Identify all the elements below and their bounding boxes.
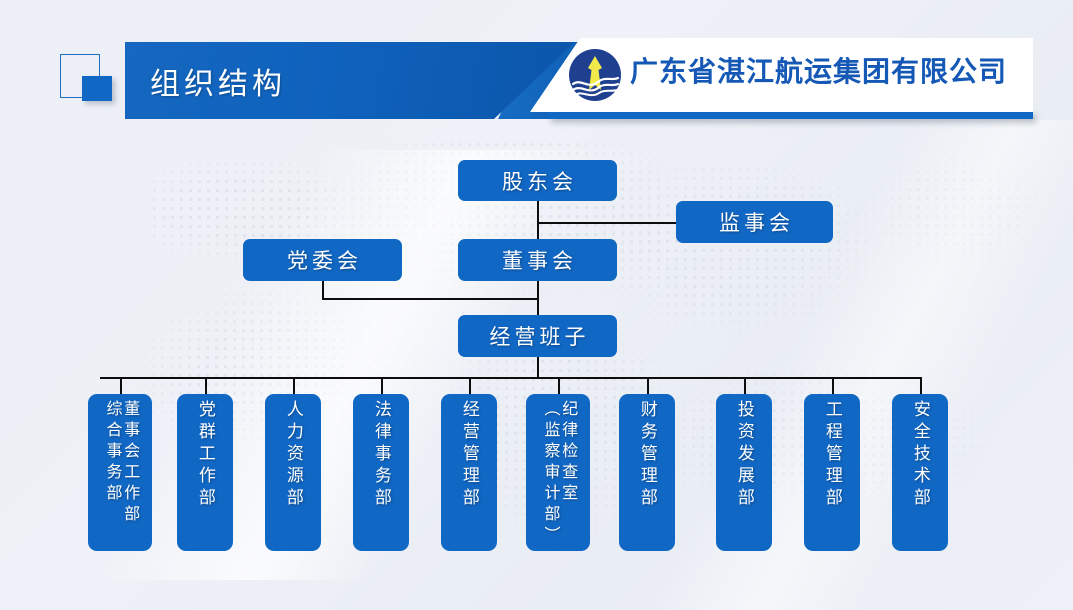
connector-line	[100, 377, 920, 379]
org-node-dept-9[interactable]: 工程管理部	[804, 394, 860, 551]
connector-line	[322, 281, 324, 298]
org-node-dept-4[interactable]: 法律事务部	[353, 394, 409, 551]
org-node-dept-5[interactable]: 经营管理部	[441, 394, 497, 551]
org-node-label-columns: 安全技术部	[911, 400, 929, 551]
org-node-label: 董事会工作部	[121, 400, 138, 526]
org-node-board[interactable]: 董事会	[458, 239, 617, 281]
org-node-dept-7[interactable]: 财务管理部	[619, 394, 675, 551]
org-node-label-columns: 投资发展部	[735, 400, 753, 551]
org-node-label: 党委会	[287, 245, 362, 275]
org-node-supervisors[interactable]: 监事会	[676, 201, 833, 243]
org-node-label: 董事会	[502, 245, 577, 275]
connector-line	[537, 222, 676, 224]
org-node-dept-1[interactable]: 董事会工作部综合事务部	[88, 394, 152, 551]
org-node-dept-8[interactable]: 投资发展部	[716, 394, 772, 551]
org-node-label-columns: 法律事务部	[372, 400, 390, 551]
org-node-dept-6[interactable]: 纪律检查室（监察审计部）	[526, 394, 590, 551]
slide-canvas: 组织结构 广东省湛江航运集团有限公司 股东会监事会党委会董事会经营班子董事会工作…	[0, 0, 1073, 610]
connector-line	[832, 377, 834, 394]
org-node-shareholders[interactable]: 股东会	[458, 160, 617, 201]
connector-line	[744, 377, 746, 394]
connector-line	[381, 377, 383, 394]
connector-line	[537, 357, 539, 377]
org-node-label: 法律事务部	[372, 400, 390, 510]
org-node-label: 监事会	[719, 207, 794, 237]
org-node-label-columns: 党群工作部	[196, 400, 214, 551]
org-node-label: 投资发展部	[735, 400, 753, 510]
org-node-party-committee[interactable]: 党委会	[243, 239, 402, 281]
connector-line	[120, 377, 122, 394]
org-node-label: 纪律检查室	[559, 400, 576, 505]
connector-line	[205, 377, 207, 394]
org-node-label: 经营管理部	[460, 400, 478, 510]
org-node-dept-3[interactable]: 人力资源部	[265, 394, 321, 551]
org-node-label-columns: 董事会工作部综合事务部	[103, 400, 138, 551]
org-node-label: 经营班子	[490, 321, 590, 351]
org-node-label-columns: 人力资源部	[284, 400, 302, 551]
org-node-label: 工程管理部	[823, 400, 841, 510]
org-chart: 股东会监事会党委会董事会经营班子董事会工作部综合事务部党群工作部人力资源部法律事…	[0, 0, 1073, 610]
connector-line	[322, 298, 537, 300]
connector-line	[558, 377, 560, 394]
connector-line	[537, 201, 539, 239]
connector-line	[647, 377, 649, 394]
org-node-label: 党群工作部	[196, 400, 214, 510]
org-node-sublabel: （监察审计部）	[541, 400, 558, 547]
org-node-label-columns: 财务管理部	[638, 400, 656, 551]
org-node-dept-10[interactable]: 安全技术部	[892, 394, 948, 551]
org-node-label: 安全技术部	[911, 400, 929, 510]
org-node-label-columns: 经营管理部	[460, 400, 478, 551]
org-node-label: 股东会	[502, 166, 577, 196]
connector-line	[920, 377, 922, 394]
org-node-sublabel: 综合事务部	[103, 400, 120, 505]
org-node-label-columns: 纪律检查室（监察审计部）	[541, 400, 576, 551]
org-node-management[interactable]: 经营班子	[458, 315, 617, 357]
connector-line	[293, 377, 295, 394]
connector-line	[469, 377, 471, 394]
org-node-label-columns: 工程管理部	[823, 400, 841, 551]
org-node-dept-2[interactable]: 党群工作部	[177, 394, 233, 551]
connector-line	[537, 281, 539, 315]
org-node-label: 人力资源部	[284, 400, 302, 510]
org-node-label: 财务管理部	[638, 400, 656, 510]
